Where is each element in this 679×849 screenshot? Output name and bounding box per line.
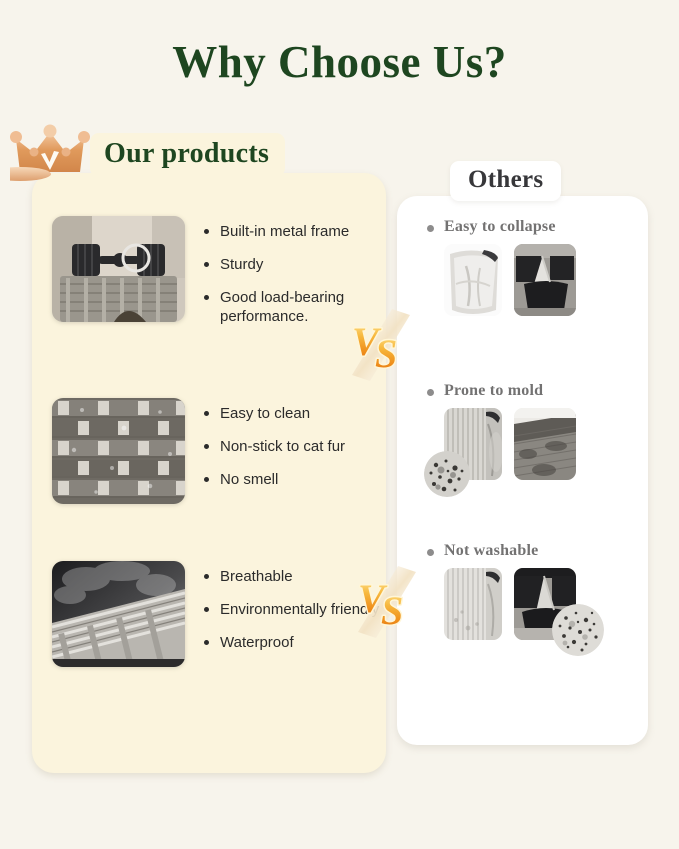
svg-text:S: S <box>375 331 397 376</box>
mold-spots-closeup-blob <box>424 451 470 497</box>
others-heading: Not washable <box>424 542 576 560</box>
others-tab-label: Others <box>450 161 561 201</box>
speckled-stain-closeup-blob <box>552 604 604 656</box>
our-product-row: Breathable Environmentally friendly Wate… <box>52 561 379 667</box>
our-products-tab-label: Our products <box>90 133 285 177</box>
feature-list: Breathable Environmentally friendly Wate… <box>203 561 379 652</box>
others-image-group <box>424 408 576 486</box>
our-product-row: Easy to clean Non-stick to cat fur No sm… <box>52 398 345 504</box>
others-row: Prone to mold <box>424 382 576 486</box>
feature-item: Waterproof <box>203 633 379 653</box>
moldy-fabric-texture-photo <box>514 408 576 480</box>
feature-item: Sturdy <box>203 255 383 275</box>
collapsed-dark-fabric-bin-photo <box>514 244 576 316</box>
feature-item: Built-in metal frame <box>203 222 383 242</box>
others-image-group <box>424 244 576 322</box>
rattan-weave-closeup-photo <box>52 398 185 504</box>
feature-item: Easy to clean <box>203 404 345 424</box>
feature-item: Environmentally friendly <box>203 600 379 620</box>
feature-item: Breathable <box>203 567 379 587</box>
rattan-breathability-smoke-photo <box>52 561 185 667</box>
our-product-row: Built-in metal frame Sturdy Good load-be… <box>52 216 383 327</box>
dumbbell-on-rattan-basket-photo <box>52 216 185 322</box>
others-heading: Prone to mold <box>424 382 576 400</box>
vs-badge-bottom: V V S S <box>354 566 420 638</box>
light-corduroy-bin-photo <box>444 568 502 640</box>
others-row: Easy to collapse <box>424 218 576 322</box>
others-row: Not washable <box>424 542 576 646</box>
feature-item: Non-stick to cat fur <box>203 437 345 457</box>
others-heading: Easy to collapse <box>424 218 576 236</box>
feature-item: No smell <box>203 470 345 490</box>
feature-list: Easy to clean Non-stick to cat fur No sm… <box>203 398 345 489</box>
vs-badge-top: V V S S <box>348 309 414 381</box>
crown-check-icon <box>10 122 90 184</box>
page-title: Why Choose Us? <box>0 36 679 88</box>
collapsed-white-fabric-bin-photo <box>444 244 502 316</box>
svg-text:S: S <box>381 588 403 633</box>
others-image-group <box>424 568 576 646</box>
